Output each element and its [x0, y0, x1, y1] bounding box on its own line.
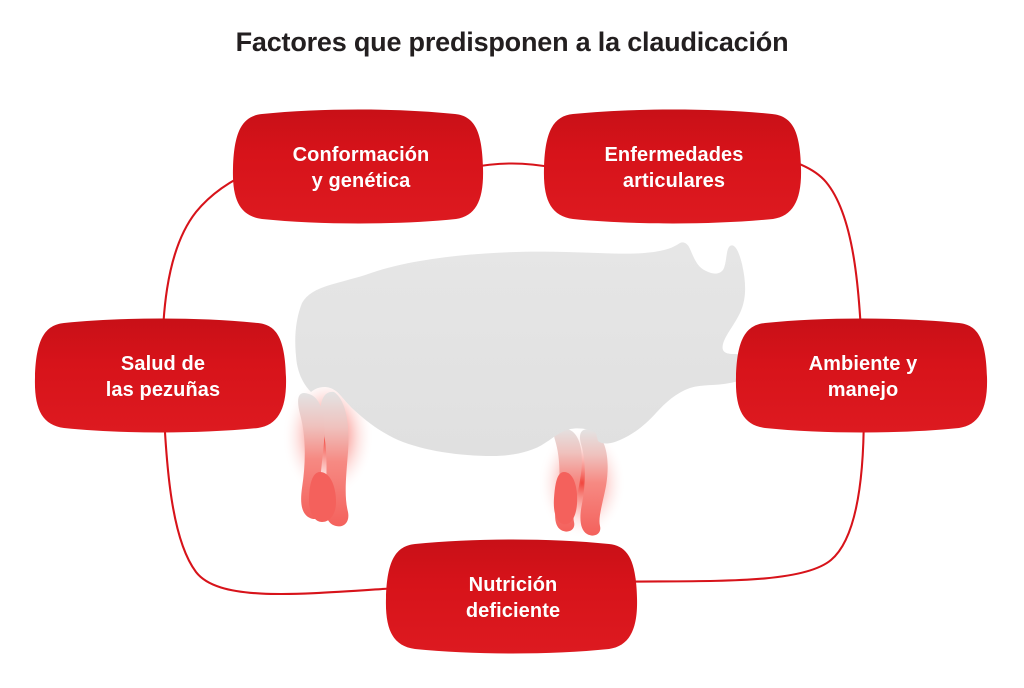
node-label-salud-pezunas: Salud de las pezuñas: [32, 327, 294, 427]
node-enfermedades-line1: Enfermedades: [604, 142, 743, 168]
node-nutricion-line1: Nutrición: [469, 572, 558, 598]
infographic-canvas: Factores que predisponen a la claudicaci…: [0, 0, 1024, 688]
node-salud-line2: las pezuñas: [106, 377, 220, 403]
node-labels: Conformación y genética Enfermedades art…: [0, 0, 1024, 688]
node-conformacion-line2: y genética: [312, 168, 411, 194]
node-label-conformacion: Conformación y genética: [232, 118, 490, 218]
node-ambiente-line2: manejo: [828, 377, 899, 403]
node-conformacion-line1: Conformación: [293, 142, 430, 168]
node-label-nutricion: Nutrición deficiente: [382, 548, 644, 648]
node-nutricion-line2: deficiente: [466, 598, 560, 624]
node-label-ambiente-manejo: Ambiente y manejo: [732, 327, 994, 427]
node-enfermedades-line2: articulares: [623, 168, 725, 194]
node-label-enfermedades: Enfermedades articulares: [540, 118, 808, 218]
node-salud-line1: Salud de: [121, 351, 205, 377]
node-ambiente-line1: Ambiente y: [809, 351, 918, 377]
